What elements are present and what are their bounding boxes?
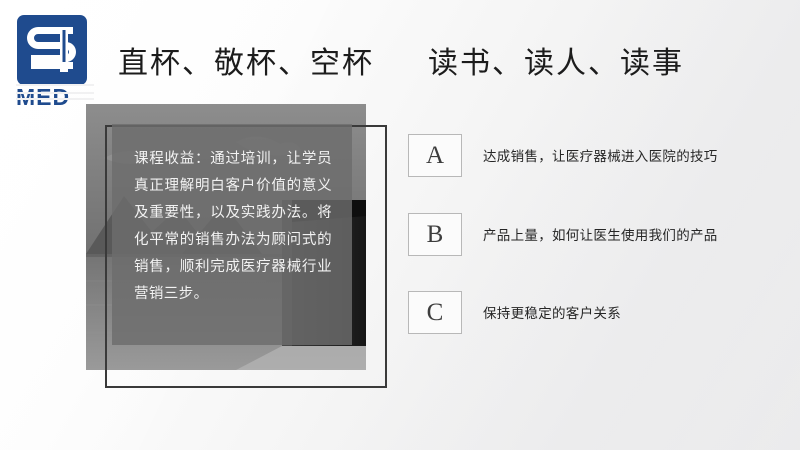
bullet-marker-box-c: C	[408, 291, 462, 334]
bullet-item-b[interactable]: B 产品上量，如何让医生使用我们的产品	[408, 212, 780, 256]
bullet-marker-c: C	[427, 300, 444, 325]
slide-canvas: MED 直杯、敬杯、空杯 读书、读人、读事	[0, 0, 800, 450]
bullet-item-a[interactable]: A 达成销售，让医疗器械进入医院的技巧	[408, 133, 780, 177]
caption-text: 课程收益：通过培训，让学员真正理解明白客户价值的意义及重要性，以及实践办法。将化…	[134, 146, 332, 308]
bullet-marker-b: B	[427, 222, 444, 247]
bullet-marker-a: A	[426, 143, 444, 168]
bullet-text-c: 保持更稳定的客户关系	[483, 302, 621, 322]
brand-wordmark: MED	[16, 84, 94, 110]
bullet-item-c[interactable]: C 保持更稳定的客户关系	[408, 290, 780, 334]
headline-left: 直杯、敬杯、空杯	[118, 38, 374, 82]
bullet-marker-box-a: A	[408, 134, 462, 177]
svg-text:MED: MED	[16, 84, 70, 110]
headline-right: 读书、读人、读事	[428, 38, 684, 82]
bullet-text-b: 产品上量，如何让医生使用我们的产品	[483, 224, 718, 244]
bullet-marker-box-b: B	[408, 213, 462, 256]
slide-headline: 直杯、敬杯、空杯 读书、读人、读事	[118, 34, 758, 86]
brand-logo: MED	[16, 14, 96, 110]
caption-overlay: 课程收益：通过培训，让学员真正理解明白客户价值的意义及重要性，以及实践办法。将化…	[112, 124, 352, 345]
smed-s-logo-icon	[16, 14, 88, 86]
bullet-list: A 达成销售，让医疗器械进入医院的技巧 B 产品上量，如何让医生使用我们的产品 …	[408, 128, 780, 340]
bullet-text-a: 达成销售，让医疗器械进入医院的技巧	[483, 145, 718, 165]
